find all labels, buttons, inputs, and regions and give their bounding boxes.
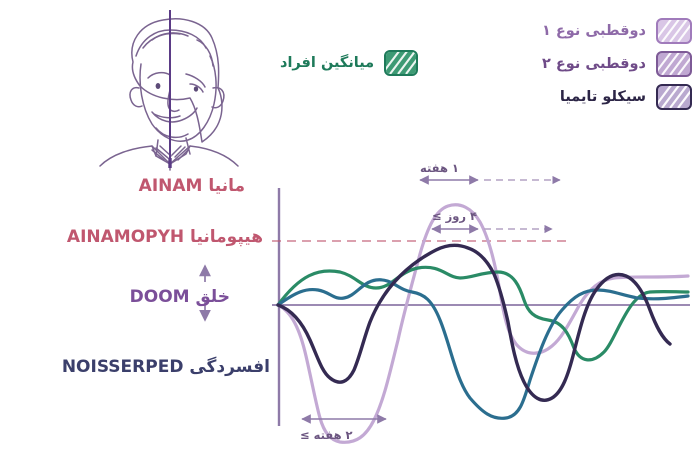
legend-label-bipolar-1: دوقطبی نوع ۱ — [542, 23, 646, 39]
swatch-cyclothymia-icon — [656, 84, 692, 110]
label-hypomania: هیپومانیا HYPOMANIA — [67, 227, 263, 247]
legend-item-cyclothymia[interactable]: سیکلو تایمیا — [502, 80, 692, 113]
swatch-bipolar-2-icon — [656, 51, 692, 77]
annotation-label-two-weeks: ۲ هفته ≥ — [300, 428, 353, 442]
legend-label-average-person: میانگین افراد — [280, 55, 374, 71]
legend-item-bipolar-1[interactable]: دوقطبی نوع ۱ — [502, 14, 692, 47]
label-mood: خلق MOOD — [130, 287, 230, 307]
legend-label-cyclothymia: سیکلو تایمیا — [560, 89, 646, 105]
diagram-canvas: دوقطبی نوع ۱ دوقطبی نوع ۲ — [0, 0, 700, 450]
swatch-average-person-icon — [384, 50, 418, 76]
legend-label-bipolar-2: دوقطبی نوع ۲ — [542, 56, 646, 72]
curve-average-person — [278, 267, 688, 360]
annotation-label-one-week: ۱ هفته — [420, 161, 459, 175]
curve-cyclothymia — [278, 245, 670, 400]
legend-item-average-person[interactable]: میانگین افراد — [280, 50, 418, 76]
legend: دوقطبی نوع ۱ دوقطبی نوع ۲ — [502, 14, 692, 113]
swatch-bipolar-1-icon — [656, 18, 692, 44]
curve-bipolar-2 — [278, 280, 688, 419]
annotation-label-four-days: ۴ روز ≥ — [432, 209, 477, 223]
label-depression: افسردگی DEPRESSION — [62, 357, 270, 377]
legend-item-bipolar-2[interactable]: دوقطبی نوع ۲ — [502, 47, 692, 80]
label-mania: مانیا MANIA — [139, 176, 245, 196]
